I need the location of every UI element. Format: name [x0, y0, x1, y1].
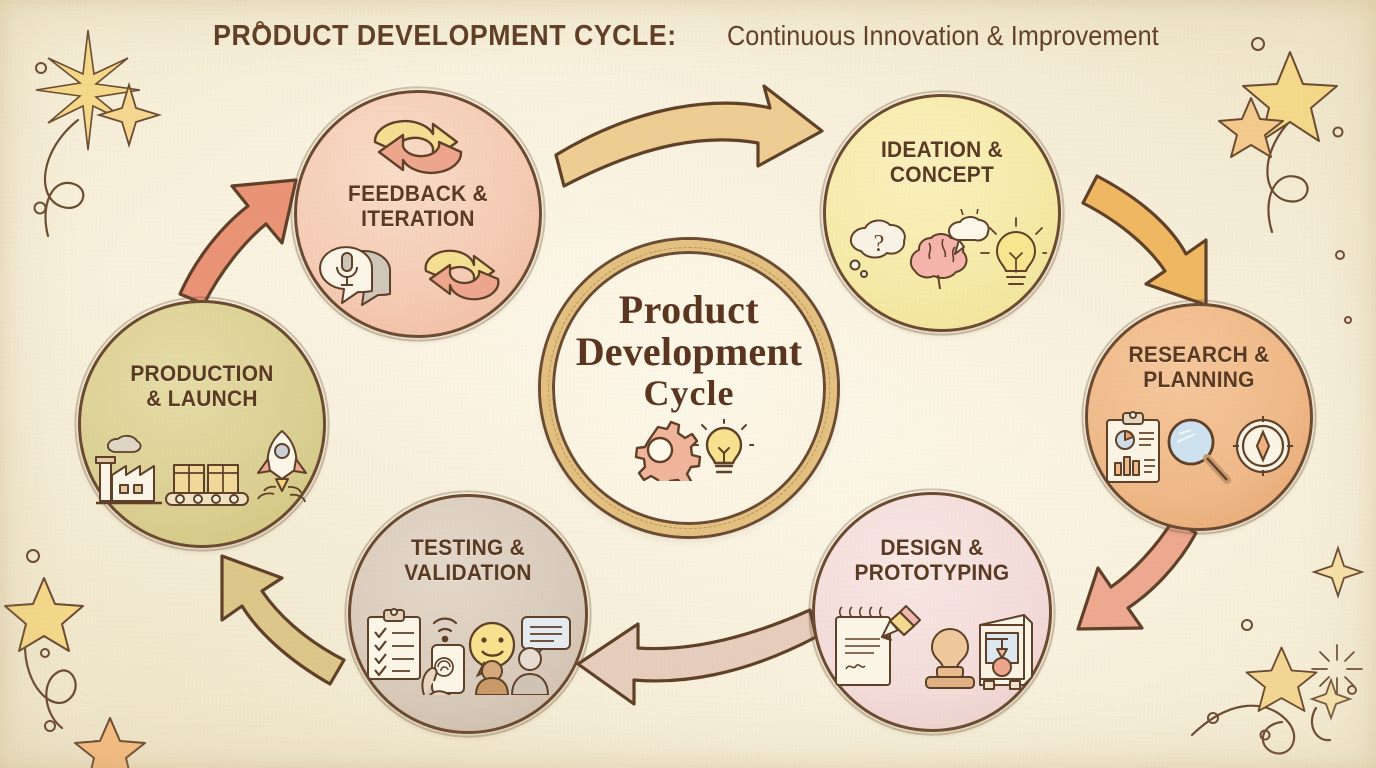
node-testing-validation[interactable]: TESTING & VALIDATION	[348, 494, 588, 734]
arrow-top-right	[1083, 176, 1206, 305]
swirl-icon	[25, 643, 76, 728]
rocket-icon	[258, 431, 306, 502]
title-subtitle: Continuous Innovation & Improvement	[727, 20, 1159, 52]
factory-icon	[96, 436, 162, 503]
magnifier-icon	[1169, 420, 1227, 480]
node-label-line-1: FEEDBACK &	[300, 182, 536, 207]
compass-icon	[1233, 416, 1293, 476]
infographic-canvas: .ar { stroke:#5f4028; stroke-width:3.2; …	[0, 0, 1376, 768]
swirl-icon	[1312, 708, 1330, 740]
circle-dot-icon	[1242, 620, 1252, 630]
center-line-3: Cycle	[576, 375, 803, 411]
circle-dot-icon	[1348, 686, 1356, 694]
arrow-top	[556, 86, 822, 186]
star-icon	[5, 578, 83, 651]
arrow-bottom-right	[1078, 520, 1196, 629]
center-line-2: Development	[576, 332, 803, 372]
star-icon	[75, 718, 145, 768]
circle-dot-icon	[27, 550, 39, 562]
node-label-line-2: PLANNING	[1091, 368, 1308, 393]
thought-bubble-question-icon: ?	[851, 221, 905, 278]
node-label-line-2: PROTOTYPING	[818, 561, 1046, 586]
node-label-line-2: CONCEPT	[829, 163, 1055, 188]
center-icons	[624, 419, 754, 486]
center-line-1: Product	[576, 290, 803, 330]
swirl-icon	[1192, 706, 1294, 754]
arrow-bottom	[578, 610, 816, 704]
swirl-icon	[1267, 112, 1307, 232]
circle-dot-icon	[1261, 731, 1270, 740]
four-point-star-icon	[99, 85, 159, 145]
four-point-star-icon	[1314, 548, 1362, 596]
title-main: PRODUCT DEVELOPMENT CYCLE:	[213, 20, 676, 53]
node-label-line-1: PRODUCTION	[84, 362, 320, 387]
3d-printer-icon	[980, 615, 1032, 689]
circle-dot-icon	[41, 649, 49, 657]
circle-dot-icon	[45, 721, 55, 731]
circle-dot-icon	[92, 741, 100, 749]
gear-icon	[636, 422, 700, 481]
node-label-line-2: ITERATION	[300, 207, 536, 232]
circle-dot-icon	[36, 63, 46, 73]
page-title: PRODUCT DEVELOPMENT CYCLE:Continuous Inn…	[0, 20, 1376, 53]
node-label-line-2: VALIDATION	[354, 561, 582, 586]
speech-bubble-mic-icon	[320, 247, 390, 305]
phone-in-hand-icon	[422, 619, 464, 695]
four-point-star-icon	[1312, 680, 1350, 718]
node-label-line-1: IDEATION &	[829, 138, 1055, 163]
clipboard-chart-icon	[1107, 412, 1159, 482]
node-label-line-1: TESTING &	[354, 536, 582, 561]
node-design-prototyping[interactable]: DESIGN & PROTOTYPING	[812, 492, 1052, 732]
lightbulb-icon	[693, 419, 754, 472]
node-production-launch[interactable]: PRODUCTION & LAUNCH	[78, 300, 326, 548]
star-icon	[1219, 98, 1283, 157]
circle-dot-icon	[35, 203, 46, 214]
lightbulb-icon	[981, 218, 1047, 284]
cycle-arrows-icon	[426, 251, 499, 300]
node-research-planning[interactable]: RESEARCH & PLANNING	[1085, 303, 1313, 531]
arrow-bottom-left	[222, 556, 344, 684]
star-icon	[1243, 52, 1337, 141]
node-label-line-1: RESEARCH &	[1091, 343, 1308, 368]
center-hub[interactable]: Product Development Cycle	[541, 240, 837, 536]
prototype-stamp-icon	[926, 629, 974, 688]
node-ideation-concept[interactable]: IDEATION & CONCEPT ?	[823, 94, 1061, 332]
circle-dot-icon	[1345, 317, 1351, 323]
arrow-top-left	[180, 180, 296, 304]
circle-dot-icon	[1208, 713, 1218, 723]
circle-dot-icon	[1336, 251, 1344, 259]
star-icon	[1247, 648, 1317, 711]
swirl-icon	[45, 120, 83, 236]
sparkle-icon	[1312, 645, 1362, 693]
circle-dot-icon	[1334, 128, 1343, 137]
svg-text:?: ?	[874, 231, 885, 257]
checklist-clipboard-icon	[368, 609, 420, 679]
conveyor-boxes-icon	[166, 465, 248, 505]
node-label-line-1: DESIGN &	[818, 536, 1046, 561]
node-feedback-iteration[interactable]: FEEDBACK & ITERATION	[294, 90, 542, 338]
center-title: Product Development Cycle	[576, 290, 803, 411]
node-label-line-2: & LAUNCH	[84, 387, 320, 412]
notepad-pencil-icon	[836, 606, 920, 685]
